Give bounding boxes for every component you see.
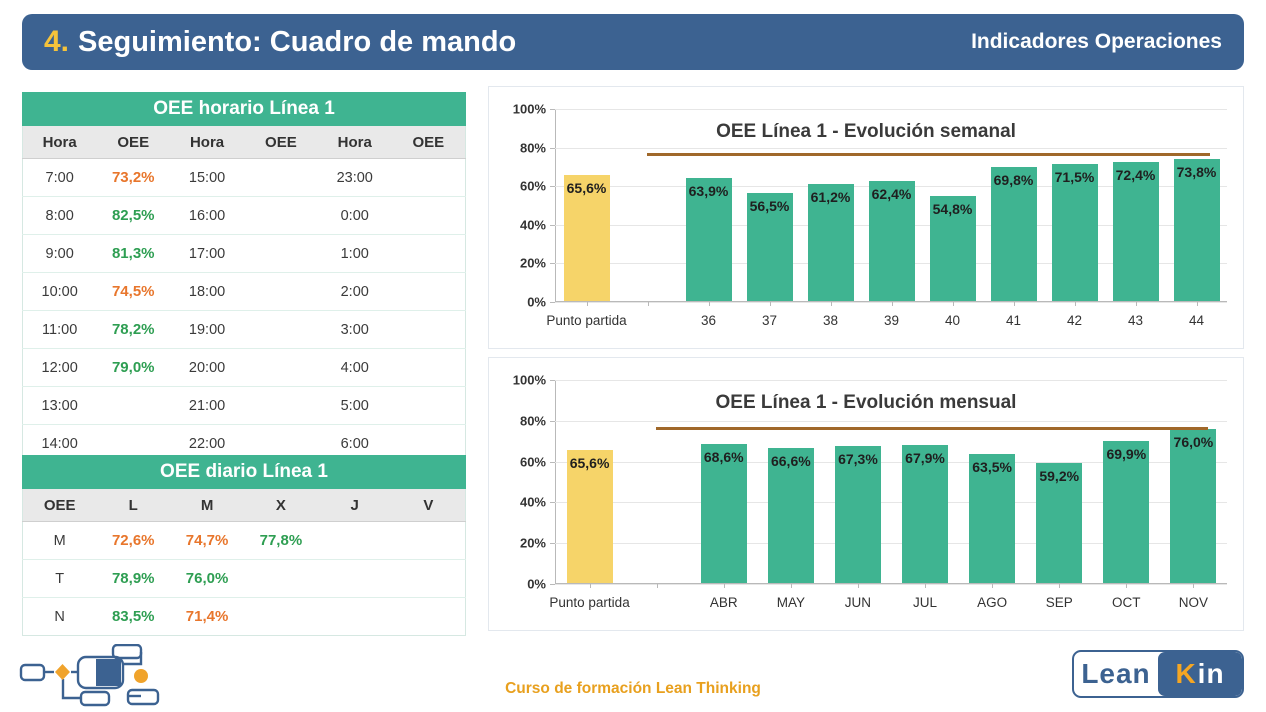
daily-col-header-0: OEE: [23, 489, 97, 522]
monthly-y-tick-label: 20%: [520, 536, 546, 551]
weekly-bar-value-label: 61,2%: [811, 189, 851, 205]
monthly-x-tick-label: MAY: [777, 595, 805, 610]
monthly-x-tick-mark: [1193, 583, 1194, 588]
weekly-bar[interactable]: 62,4%: [869, 181, 915, 301]
weekly-x-tick-label: 44: [1189, 313, 1204, 328]
hourly-cell: 79,0%: [96, 349, 170, 387]
weekly-y-tick-mark: [550, 148, 555, 149]
weekly-y-tick-mark: [550, 225, 555, 226]
hourly-col-header-4: Hora: [318, 126, 392, 159]
weekly-x-tick-label: 42: [1067, 313, 1082, 328]
monthly-x-tick-mark: [1126, 583, 1127, 588]
daily-cell: 78,9%: [96, 560, 170, 598]
monthly-bar-value-label: 65,6%: [570, 455, 610, 471]
hourly-cell: [244, 273, 318, 311]
hourly-col-header-5: OEE: [392, 126, 466, 159]
hourly-cell: 15:00: [170, 159, 244, 197]
weekly-y-tick-mark: [550, 263, 555, 264]
daily-col-header-4: J: [318, 489, 392, 522]
daily-value: 83,5%: [112, 608, 155, 625]
weekly-bar-value-label: 56,5%: [750, 198, 790, 214]
monthly-bar[interactable]: 69,9%: [1103, 441, 1149, 583]
daily-col-header-2: M: [170, 489, 244, 522]
table-row: 13:0021:005:00: [23, 387, 466, 425]
monthly-bar-slot[interactable]: 68,6%ABR: [690, 380, 757, 583]
weekly-x-tick-mark: [648, 301, 649, 306]
hourly-cell: 74,5%: [96, 273, 170, 311]
monthly-x-tick-mark: [590, 583, 591, 588]
hourly-col-header-2: Hora: [170, 126, 244, 159]
monthly-bar-slot[interactable]: 76,0%NOV: [1160, 380, 1227, 583]
weekly-bar-value-label: 71,5%: [1055, 169, 1095, 185]
hourly-cell: 81,3%: [96, 235, 170, 273]
weekly-x-tick-mark: [953, 301, 954, 306]
monthly-x-tick-label: JUL: [913, 595, 937, 610]
weekly-x-tick-mark: [709, 301, 710, 306]
weekly-bar-slot[interactable]: 63,9%36: [678, 109, 739, 301]
daily-cell: 74,7%: [170, 522, 244, 560]
weekly-bar-slot[interactable]: 54,8%40: [922, 109, 983, 301]
monthly-bar[interactable]: 67,3%: [835, 446, 881, 583]
hourly-value: 78,2%: [112, 321, 155, 338]
hourly-cell: 20:00: [170, 349, 244, 387]
weekly-x-tick-mark: [1075, 301, 1076, 306]
hourly-cell: 21:00: [170, 387, 244, 425]
daily-oee-panel: OEE diario Línea 1 OEELMXJV M72,6%74,7%7…: [22, 455, 466, 636]
weekly-y-tick-label: 40%: [520, 217, 546, 232]
monthly-y-tick-label: 40%: [520, 495, 546, 510]
weekly-bar-value-label: 54,8%: [933, 201, 973, 217]
weekly-bars-group: 65,6%Punto partida63,9%3656,5%3761,2%386…: [556, 109, 1227, 301]
monthly-bar[interactable]: 66,6%: [768, 448, 814, 583]
weekly-y-tick-label: 80%: [520, 140, 546, 155]
hourly-table-title: OEE horario Línea 1: [22, 92, 466, 126]
weekly-y-tick-mark: [550, 186, 555, 187]
page-title: Seguimiento: Cuadro de mando: [78, 26, 516, 59]
daily-table-title: OEE diario Línea 1: [22, 455, 466, 489]
monthly-x-tick-mark: [1059, 583, 1060, 588]
weekly-x-tick-label: 40: [945, 313, 960, 328]
daily-cell: T: [23, 560, 97, 598]
monthly-bar-slot[interactable]: 67,9%JUL: [891, 380, 958, 583]
weekly-evolution-chart: OEE Línea 1 - Evolución semanal 0%20%40%…: [488, 86, 1244, 349]
hourly-cell: 0:00: [318, 197, 392, 235]
weekly-bar-value-label: 72,4%: [1116, 167, 1156, 183]
weekly-bar-slot[interactable]: 69,8%41: [983, 109, 1044, 301]
daily-col-header-3: X: [244, 489, 318, 522]
hourly-oee-table: HoraOEEHoraOEEHoraOEE 7:0073,2%15:0023:0…: [22, 126, 466, 463]
weekly-bar-value-label: 69,8%: [994, 172, 1034, 188]
hourly-cell: 78,2%: [96, 311, 170, 349]
hourly-cell: 10:00: [23, 273, 97, 311]
hourly-cell: [244, 159, 318, 197]
daily-cell: 76,0%: [170, 560, 244, 598]
weekly-bar-slot[interactable]: 71,5%42: [1044, 109, 1105, 301]
daily-col-header-1: L: [96, 489, 170, 522]
logo-lean-text: Lean: [1074, 652, 1158, 696]
monthly-x-tick-mark: [925, 583, 926, 588]
monthly-y-tick-label: 80%: [520, 413, 546, 428]
hourly-value: 73,2%: [112, 169, 155, 186]
monthly-bar-slot[interactable]: 59,2%SEP: [1026, 380, 1093, 583]
monthly-bar-value-label: 63,5%: [972, 459, 1012, 475]
monthly-y-tick-mark: [550, 421, 555, 422]
daily-cell: [318, 560, 392, 598]
logo-in-text: in: [1198, 658, 1225, 690]
weekly-bar-slot[interactable]: [617, 109, 678, 301]
monthly-bar-value-label: 67,9%: [905, 450, 945, 466]
monthly-bar[interactable]: 63,5%: [969, 454, 1015, 583]
header-subtitle: Indicadores Operaciones: [971, 30, 1222, 54]
daily-cell: [318, 522, 392, 560]
weekly-bar-slot[interactable]: 72,4%43: [1105, 109, 1166, 301]
hourly-cell: 18:00: [170, 273, 244, 311]
hourly-cell: [244, 235, 318, 273]
weekly-y-tick-label: 60%: [520, 179, 546, 194]
monthly-bar-slot[interactable]: 67,3%JUN: [824, 380, 891, 583]
hourly-col-header-1: OEE: [96, 126, 170, 159]
weekly-bar-value-label: 65,6%: [567, 180, 607, 196]
hourly-cell: 2:00: [318, 273, 392, 311]
header-section-number: 4.: [44, 25, 69, 59]
hourly-cell: 19:00: [170, 311, 244, 349]
daily-value: 76,0%: [186, 570, 229, 587]
weekly-bar-slot[interactable]: 73,8%44: [1166, 109, 1227, 301]
hourly-cell: 8:00: [23, 197, 97, 235]
hourly-cell: [244, 311, 318, 349]
weekly-bar[interactable]: 69,8%: [991, 167, 1037, 301]
table-row: 11:0078,2%19:003:00: [23, 311, 466, 349]
daily-cell: 77,8%: [244, 522, 318, 560]
monthly-x-tick-mark: [992, 583, 993, 588]
hourly-cell: 16:00: [170, 197, 244, 235]
monthly-bar-slot[interactable]: 69,9%OCT: [1093, 380, 1160, 583]
hourly-table-header-row: HoraOEEHoraOEEHoraOEE: [23, 126, 466, 159]
process-flow-diagram-icon: [18, 644, 188, 708]
monthly-y-tick-mark: [550, 502, 555, 503]
hourly-cell: 7:00: [23, 159, 97, 197]
monthly-bar-slot[interactable]: 63,5%AGO: [959, 380, 1026, 583]
hourly-cell: 82,5%: [96, 197, 170, 235]
monthly-x-tick-label: NOV: [1179, 595, 1208, 610]
table-row: 7:0073,2%15:0023:00: [23, 159, 466, 197]
daily-value: 71,4%: [186, 608, 229, 625]
weekly-bar[interactable]: 65,6%: [564, 175, 610, 301]
weekly-x-tick-label: 43: [1128, 313, 1143, 328]
monthly-x-tick-label: ABR: [710, 595, 738, 610]
hourly-cell: [244, 387, 318, 425]
daily-cell: N: [23, 598, 97, 636]
weekly-bar-value-label: 63,9%: [689, 183, 729, 199]
weekly-x-tick-mark: [1197, 301, 1198, 306]
weekly-bar[interactable]: 61,2%: [808, 184, 854, 302]
weekly-y-tick-mark: [550, 109, 555, 110]
daily-cell: 71,4%: [170, 598, 244, 636]
table-row: N83,5%71,4%: [23, 598, 466, 636]
monthly-bar-slot[interactable]: 65,6%Punto partida: [556, 380, 623, 583]
monthly-bars-group: 65,6%Punto partida68,6%ABR66,6%MAY67,3%J…: [556, 380, 1227, 583]
table-row: 10:0074,5%18:002:00: [23, 273, 466, 311]
leankin-logo: Lean K in: [1072, 650, 1244, 698]
monthly-target-line: [656, 427, 1208, 430]
daily-cell: [244, 598, 318, 636]
monthly-x-tick-mark: [791, 583, 792, 588]
daily-col-header-5: V: [392, 489, 466, 522]
weekly-bar[interactable]: 73,8%: [1174, 159, 1220, 301]
page-header-bar: 4. Seguimiento: Cuadro de mando Indicado…: [22, 14, 1244, 70]
weekly-x-tick-mark: [1136, 301, 1137, 306]
hourly-value: 81,3%: [112, 245, 155, 262]
daily-table-header-row: OEELMXJV: [23, 489, 466, 522]
hourly-cell: 1:00: [318, 235, 392, 273]
weekly-x-tick-label: 36: [701, 313, 716, 328]
monthly-evolution-chart: OEE Línea 1 - Evolución mensual 0%20%40%…: [488, 357, 1244, 631]
hourly-col-header-3: OEE: [244, 126, 318, 159]
daily-cell: [244, 560, 318, 598]
monthly-bar-value-label: 66,6%: [771, 453, 811, 469]
hourly-cell: 4:00: [318, 349, 392, 387]
weekly-x-tick-label: 37: [762, 313, 777, 328]
monthly-x-tick-label: OCT: [1112, 595, 1141, 610]
weekly-bar-slot[interactable]: 61,2%38: [800, 109, 861, 301]
monthly-x-tick-mark: [724, 583, 725, 588]
daily-cell: [392, 522, 466, 560]
hourly-cell: 73,2%: [96, 159, 170, 197]
logo-kin-block: K in: [1158, 652, 1242, 696]
monthly-bar[interactable]: 67,9%: [902, 445, 948, 583]
logo-k-letter: K: [1175, 658, 1196, 690]
monthly-bar-value-label: 76,0%: [1174, 434, 1214, 450]
monthly-bar[interactable]: 59,2%: [1036, 463, 1082, 583]
hourly-oee-panel: OEE horario Línea 1 HoraOEEHoraOEEHoraOE…: [22, 92, 466, 463]
monthly-bar-value-label: 69,9%: [1106, 446, 1146, 462]
weekly-bar[interactable]: 63,9%: [686, 178, 732, 301]
hourly-cell: 23:00: [318, 159, 392, 197]
weekly-x-tick-label: 38: [823, 313, 838, 328]
hourly-cell: 11:00: [23, 311, 97, 349]
hourly-cell: 9:00: [23, 235, 97, 273]
monthly-x-tick-mark: [657, 583, 658, 588]
weekly-bar[interactable]: 54,8%: [930, 196, 976, 301]
weekly-bar-value-label: 62,4%: [872, 186, 912, 202]
hourly-col-header-0: Hora: [23, 126, 97, 159]
header-left-group: 4. Seguimiento: Cuadro de mando: [44, 25, 516, 59]
monthly-y-tick-mark: [550, 462, 555, 463]
daily-cell: M: [23, 522, 97, 560]
monthly-y-tick-label: 0%: [527, 577, 546, 592]
weekly-y-tick-label: 100%: [513, 102, 546, 117]
hourly-value: 79,0%: [112, 359, 155, 376]
monthly-x-tick-label: JUN: [845, 595, 871, 610]
weekly-bar-value-label: 73,8%: [1177, 164, 1217, 180]
weekly-bar-slot[interactable]: 56,5%37: [739, 109, 800, 301]
weekly-bar-slot[interactable]: 65,6%Punto partida: [556, 109, 617, 301]
weekly-plot-area: 0%20%40%60%80%100% 65,6%Punto partida63,…: [555, 109, 1227, 302]
weekly-bar[interactable]: 72,4%: [1113, 162, 1159, 301]
table-row: T78,9%76,0%: [23, 560, 466, 598]
monthly-bar-slot[interactable]: [623, 380, 690, 583]
monthly-y-tick-mark: [550, 584, 555, 585]
daily-oee-table: OEELMXJV M72,6%74,7%77,8%T78,9%76,0%N83,…: [22, 489, 466, 636]
hourly-value: 82,5%: [112, 207, 155, 224]
daily-cell: [392, 598, 466, 636]
daily-cell: 72,6%: [96, 522, 170, 560]
weekly-x-tick-label: Punto partida: [546, 313, 626, 328]
hourly-cell: 13:00: [23, 387, 97, 425]
monthly-y-tick-label: 60%: [520, 454, 546, 469]
hourly-cell: [392, 349, 466, 387]
weekly-x-tick-mark: [587, 301, 588, 306]
hourly-cell: [392, 311, 466, 349]
monthly-bar-value-label: 68,6%: [704, 449, 744, 465]
table-row: M72,6%74,7%77,8%: [23, 522, 466, 560]
daily-value: 78,9%: [112, 570, 155, 587]
monthly-y-tick-mark: [550, 543, 555, 544]
hourly-cell: [392, 273, 466, 311]
daily-cell: [392, 560, 466, 598]
weekly-y-tick-label: 20%: [520, 256, 546, 271]
weekly-y-tick-mark: [550, 302, 555, 303]
weekly-target-line: [647, 153, 1210, 156]
monthly-plot-area: 0%20%40%60%80%100% 65,6%Punto partida68,…: [555, 380, 1227, 584]
weekly-x-tick-mark: [892, 301, 893, 306]
weekly-x-tick-mark: [770, 301, 771, 306]
weekly-y-tick-label: 0%: [527, 295, 546, 310]
daily-value: 72,6%: [112, 532, 155, 549]
monthly-x-tick-label: Punto partida: [549, 595, 629, 610]
hourly-cell: [392, 235, 466, 273]
weekly-bar-slot[interactable]: 62,4%39: [861, 109, 922, 301]
monthly-bar-value-label: 59,2%: [1039, 468, 1079, 484]
monthly-y-tick-label: 100%: [513, 373, 546, 388]
monthly-bar-slot[interactable]: 66,6%MAY: [757, 380, 824, 583]
monthly-y-tick-mark: [550, 380, 555, 381]
daily-value: 74,7%: [186, 532, 229, 549]
hourly-cell: [392, 197, 466, 235]
table-row: 12:0079,0%20:004:00: [23, 349, 466, 387]
table-row: 9:0081,3%17:001:00: [23, 235, 466, 273]
table-row: 8:0082,5%16:000:00: [23, 197, 466, 235]
hourly-cell: 5:00: [318, 387, 392, 425]
hourly-cell: 12:00: [23, 349, 97, 387]
weekly-bar[interactable]: 71,5%: [1052, 164, 1098, 301]
daily-value: 77,8%: [260, 532, 303, 549]
monthly-x-tick-label: SEP: [1046, 595, 1073, 610]
monthly-bar[interactable]: 68,6%: [701, 444, 747, 583]
monthly-x-tick-label: AGO: [977, 595, 1007, 610]
daily-cell: 83,5%: [96, 598, 170, 636]
daily-cell: [318, 598, 392, 636]
hourly-cell: [392, 387, 466, 425]
hourly-cell: [244, 197, 318, 235]
hourly-value: 74,5%: [112, 283, 155, 300]
monthly-bar[interactable]: 76,0%: [1170, 429, 1216, 583]
monthly-x-tick-mark: [858, 583, 859, 588]
hourly-cell: [244, 349, 318, 387]
hourly-cell: [96, 387, 170, 425]
weekly-bar[interactable]: 56,5%: [747, 193, 793, 301]
weekly-x-tick-mark: [1014, 301, 1015, 306]
hourly-cell: 3:00: [318, 311, 392, 349]
hourly-cell: 17:00: [170, 235, 244, 273]
weekly-x-tick-label: 39: [884, 313, 899, 328]
weekly-x-tick-mark: [831, 301, 832, 306]
weekly-x-tick-label: 41: [1006, 313, 1021, 328]
monthly-bar[interactable]: 65,6%: [567, 450, 613, 583]
hourly-cell: [392, 159, 466, 197]
monthly-bar-value-label: 67,3%: [838, 451, 878, 467]
